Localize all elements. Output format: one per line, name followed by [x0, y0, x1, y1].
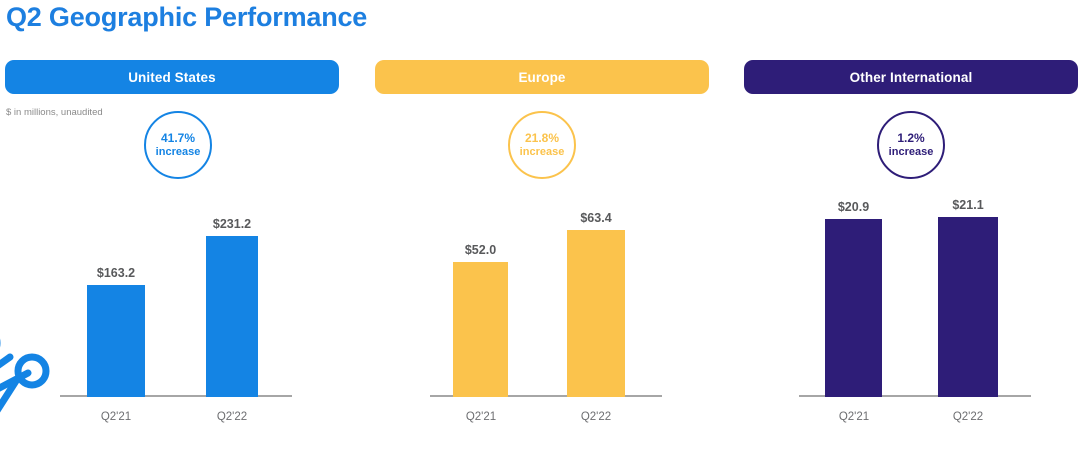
bar-q2-21: $20.9	[825, 219, 882, 397]
growth-percent: 41.7%	[161, 132, 195, 145]
tick-label-q2-22: Q2'22	[217, 411, 247, 423]
bar-value-label: $21.1	[952, 198, 983, 212]
bar-value-label: $63.4	[580, 211, 611, 225]
bar-q2-21: $52.0	[453, 262, 508, 397]
growth-badge-united-states: 41.7% increase	[144, 111, 212, 179]
bar-q2-22: $231.2	[206, 236, 258, 397]
growth-word: increase	[520, 146, 565, 158]
bar-value-label: $52.0	[465, 243, 496, 257]
tick-label-q2-22: Q2'22	[953, 411, 983, 423]
panel-header-other-international: Other International	[744, 60, 1078, 94]
panel-header-europe: Europe	[375, 60, 709, 94]
bar-value-label: $163.2	[97, 266, 135, 280]
bar-q2-22: $63.4	[567, 230, 625, 397]
panel-europe: Europe 21.8% increase $52.0 $63.4 Q2'21 …	[375, 60, 709, 433]
chart-united-states: $163.2 $231.2 Q2'21 Q2'22	[5, 180, 339, 433]
bar-value-label: $231.2	[213, 217, 251, 231]
growth-badge-europe: 21.8% increase	[508, 111, 576, 179]
chart-other-international: $20.9 $21.1 Q2'21 Q2'22	[744, 180, 1078, 433]
tick-label-q2-22: Q2'22	[581, 411, 611, 423]
tick-label-q2-21: Q2'21	[101, 411, 131, 423]
panel-other-international: Other International 1.2% increase $20.9 …	[744, 60, 1078, 433]
bar-value-label: $20.9	[838, 200, 869, 214]
growth-word: increase	[156, 146, 201, 158]
growth-badge-other-international: 1.2% increase	[877, 111, 945, 179]
tick-label-q2-21: Q2'21	[839, 411, 869, 423]
growth-percent: 1.2%	[897, 132, 924, 145]
tick-label-q2-21: Q2'21	[466, 411, 496, 423]
bar-q2-21: $163.2	[87, 285, 145, 397]
growth-percent: 21.8%	[525, 132, 559, 145]
panel-united-states: United States 41.7% increase $163.2 $231…	[5, 60, 339, 433]
panel-header-label: Other International	[850, 70, 973, 85]
bar-q2-22: $21.1	[938, 217, 998, 397]
panel-header-united-states: United States	[5, 60, 339, 94]
chart-europe: $52.0 $63.4 Q2'21 Q2'22	[375, 180, 709, 433]
page-title: Q2 Geographic Performance	[6, 2, 367, 33]
panel-header-label: Europe	[518, 70, 565, 85]
growth-word: increase	[889, 146, 934, 158]
panel-header-label: United States	[128, 70, 216, 85]
